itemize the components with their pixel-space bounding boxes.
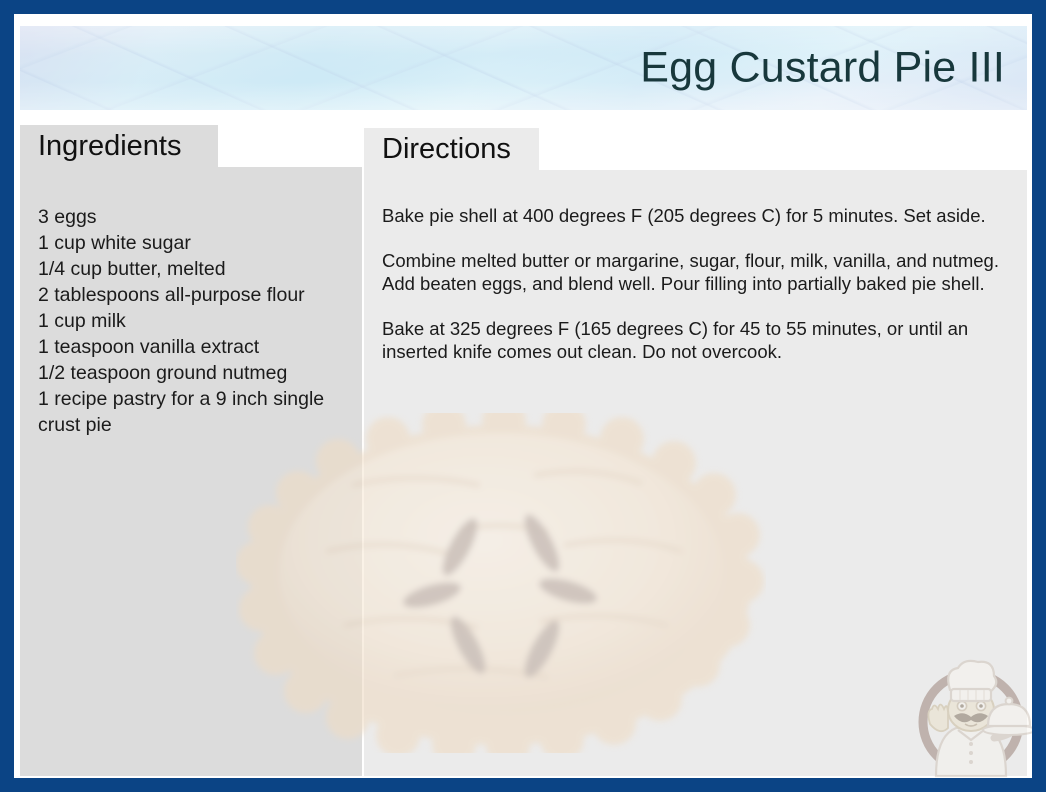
ingredients-section-tab: Ingredients: [20, 125, 218, 167]
page-surface: Egg Custard Pie III Ingredients 3 eggs 1…: [14, 14, 1032, 778]
recipe-title: Egg Custard Pie III: [640, 47, 1005, 90]
ingredients-panel: Ingredients 3 eggs 1 cup white sugar 1/4…: [20, 125, 362, 776]
direction-step: Bake at 325 degrees F (165 degrees C) fo…: [382, 317, 1012, 363]
recipe-card: Egg Custard Pie III Ingredients 3 eggs 1…: [0, 0, 1046, 792]
ingredient-item: 1 recipe pastry for a 9 inch single crus…: [38, 386, 364, 438]
directions-heading: Directions: [382, 135, 511, 164]
ingredient-item: 3 eggs: [38, 204, 364, 230]
ingredient-item: 1 teaspoon vanilla extract: [38, 334, 364, 360]
ingredient-item: 2 tablespoons all-purpose flour: [38, 282, 364, 308]
ingredients-tab-notch: [218, 125, 362, 167]
ingredients-heading: Ingredients: [38, 132, 182, 161]
ingredient-item: 1 cup white sugar: [38, 230, 364, 256]
ingredient-item: 1/4 cup butter, melted: [38, 256, 364, 282]
ingredient-item: 1/2 teaspoon ground nutmeg: [38, 360, 364, 386]
direction-step: Bake pie shell at 400 degrees F (205 deg…: [382, 204, 1012, 227]
directions-panel: Directions Bake pie shell at 400 degrees…: [364, 128, 1027, 776]
ingredients-list: 3 eggs 1 cup white sugar 1/4 cup butter,…: [38, 204, 364, 438]
title-banner: Egg Custard Pie III: [20, 26, 1027, 110]
direction-step: Combine melted butter or margarine, suga…: [382, 249, 1012, 295]
directions-body: Bake pie shell at 400 degrees F (205 deg…: [382, 204, 1012, 363]
ingredient-item: 1 cup milk: [38, 308, 364, 334]
directions-section-tab: Directions: [364, 128, 539, 170]
directions-tab-notch: [539, 128, 1027, 170]
